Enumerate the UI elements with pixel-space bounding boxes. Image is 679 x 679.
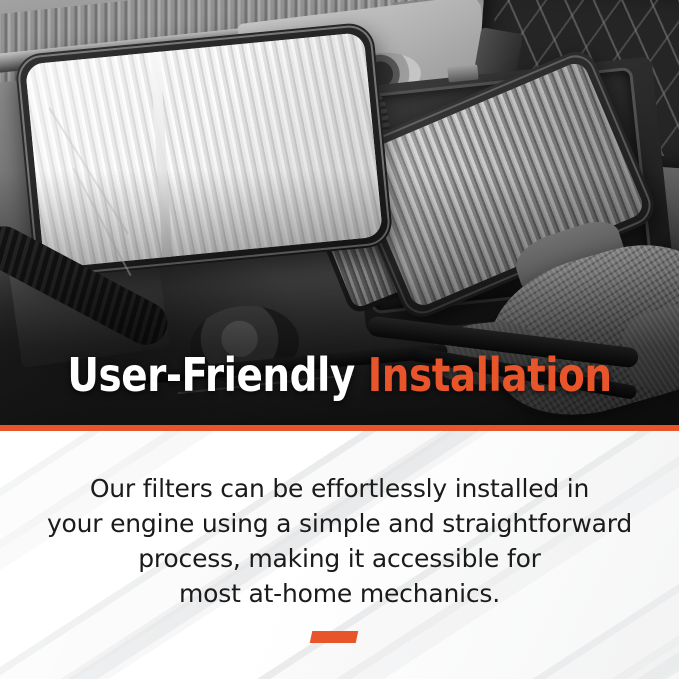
filter-sheen xyxy=(25,32,383,269)
orange-accent-bar xyxy=(310,631,359,643)
product-feature-banner: User-Friendly Installation Our filters c… xyxy=(0,0,679,679)
description-line: most at-home mechanics. xyxy=(0,576,679,611)
description-line: Our filters can be effortlessly installe… xyxy=(0,471,679,506)
primary-air-filter xyxy=(14,22,394,281)
headline-accent-text: Installation xyxy=(368,348,612,402)
headline: User-Friendly Installation xyxy=(20,352,658,398)
headline-primary-text: User-Friendly xyxy=(67,348,367,402)
description-line: process, making it accessible for xyxy=(0,541,679,576)
filter-media xyxy=(25,32,383,269)
description-text: Our filters can be effortlessly installe… xyxy=(0,471,679,611)
description-line: your engine using a simple and straightf… xyxy=(0,506,679,541)
